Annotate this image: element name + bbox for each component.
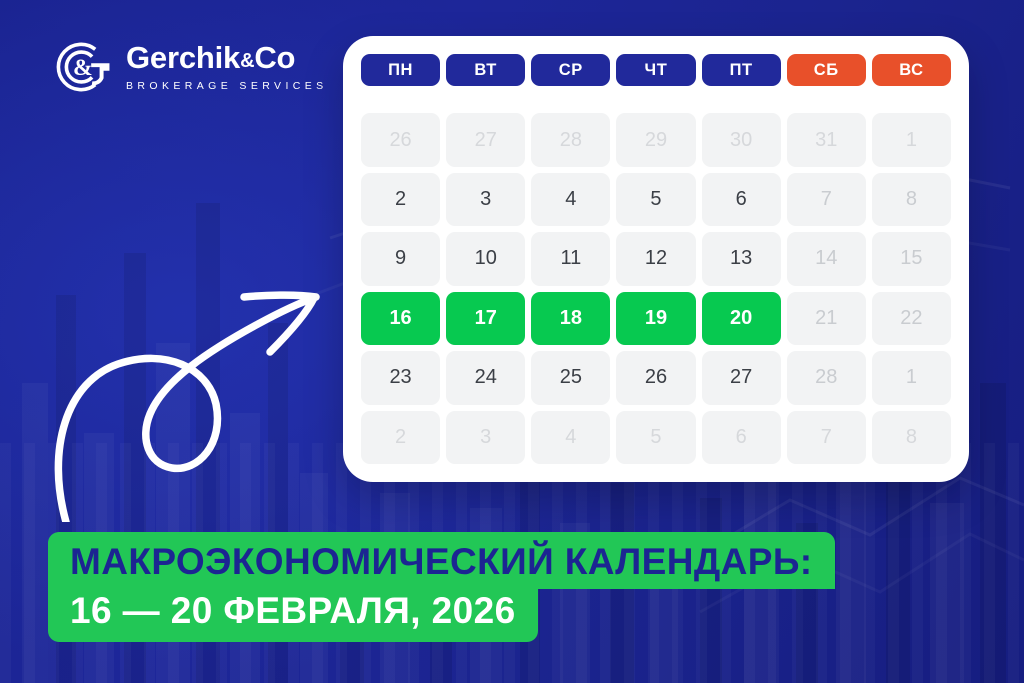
- background-bar: [930, 503, 964, 683]
- calendar-dayofweek-header: СР: [531, 54, 610, 86]
- calendar-day-cell[interactable]: 2: [361, 173, 440, 226]
- brand-wordmark: Gerchik&Co BROKERAGE SERVICES: [126, 42, 328, 92]
- calendar-day-cell[interactable]: 3: [446, 411, 525, 464]
- calendar-day-cell[interactable]: 8: [872, 411, 951, 464]
- brand-name-part2: Co: [254, 40, 295, 75]
- calendar-day-cell[interactable]: 13: [702, 232, 781, 285]
- calendar-day-cell[interactable]: 6: [702, 173, 781, 226]
- calendar-day-cell[interactable]: 3: [446, 173, 525, 226]
- calendar-grid: ПНВТСРЧТПТСБВС26272829303112345678910111…: [361, 54, 951, 464]
- hand-drawn-curved-arrow-icon: [48, 272, 338, 522]
- title-banner: МАКРОЭКОНОМИЧЕСКИЙ КАЛЕНДАРЬ: 16 — 20 ФЕ…: [48, 532, 835, 642]
- calendar-day-cell[interactable]: 4: [531, 173, 610, 226]
- calendar-day-cell[interactable]: 5: [616, 173, 695, 226]
- calendar-day-cell[interactable]: 9: [361, 232, 440, 285]
- calendar-day-cell[interactable]: 12: [616, 232, 695, 285]
- calendar-dayofweek-header: СБ: [787, 54, 866, 86]
- calendar-day-cell[interactable]: 11: [531, 232, 610, 285]
- brand-name: Gerchik&Co: [126, 42, 328, 75]
- brand-name-part1: Gerchik: [126, 40, 240, 75]
- calendar-dayofweek-header: ЧТ: [616, 54, 695, 86]
- calendar-day-cell-selected[interactable]: 18: [531, 292, 610, 345]
- calendar-day-cell[interactable]: 23: [361, 351, 440, 404]
- calendar-day-cell[interactable]: 28: [531, 113, 610, 166]
- calendar-dayofweek-header: ПН: [361, 54, 440, 86]
- calendar-day-cell[interactable]: 6: [702, 411, 781, 464]
- poster-canvas: & Gerchik&Co BROKERAGE SERVICES ПНВТСРЧТ…: [0, 0, 1024, 683]
- calendar-day-cell[interactable]: 2: [361, 411, 440, 464]
- calendar-day-cell[interactable]: 1: [872, 113, 951, 166]
- calendar-day-cell[interactable]: 24: [446, 351, 525, 404]
- calendar-day-cell[interactable]: 27: [446, 113, 525, 166]
- background-bar: [836, 478, 866, 683]
- svg-text:&: &: [73, 55, 93, 81]
- banner-title-line1: МАКРОЭКОНОМИЧЕСКИЙ КАЛЕНДАРЬ:: [48, 532, 835, 589]
- calendar-day-cell[interactable]: 31: [787, 113, 866, 166]
- calendar-day-cell-selected[interactable]: 19: [616, 292, 695, 345]
- calendar-day-cell[interactable]: 1: [872, 351, 951, 404]
- calendar-day-cell[interactable]: 7: [787, 173, 866, 226]
- brand-name-ampersand: &: [240, 50, 254, 72]
- calendar-day-cell[interactable]: 30: [702, 113, 781, 166]
- calendar-day-cell[interactable]: 26: [361, 113, 440, 166]
- calendar-day-cell-selected[interactable]: 17: [446, 292, 525, 345]
- calendar-dayofweek-header: ВС: [872, 54, 951, 86]
- calendar-day-cell[interactable]: 27: [702, 351, 781, 404]
- calendar-day-cell[interactable]: 10: [446, 232, 525, 285]
- calendar-day-cell[interactable]: 22: [872, 292, 951, 345]
- calendar-day-cell[interactable]: 5: [616, 411, 695, 464]
- calendar-day-cell[interactable]: 25: [531, 351, 610, 404]
- background-bar: [980, 383, 1006, 683]
- calendar-day-cell[interactable]: 29: [616, 113, 695, 166]
- brand-tagline: BROKERAGE SERVICES: [126, 80, 328, 92]
- calendar-day-cell[interactable]: 28: [787, 351, 866, 404]
- calendar-day-cell[interactable]: 4: [531, 411, 610, 464]
- calendar-day-cell[interactable]: 14: [787, 232, 866, 285]
- calendar-dayofweek-header: ПТ: [702, 54, 781, 86]
- calendar-day-cell[interactable]: 7: [787, 411, 866, 464]
- brand-logo[interactable]: & Gerchik&Co BROKERAGE SERVICES: [54, 38, 328, 96]
- calendar-day-cell[interactable]: 15: [872, 232, 951, 285]
- background-bar: [22, 383, 48, 683]
- calendar-day-cell[interactable]: 21: [787, 292, 866, 345]
- calendar-day-cell-selected[interactable]: 20: [702, 292, 781, 345]
- calendar-day-cell[interactable]: 8: [872, 173, 951, 226]
- calendar-dayofweek-header: ВТ: [446, 54, 525, 86]
- gerchik-monogram-icon: &: [54, 38, 112, 96]
- calendar-card: ПНВТСРЧТПТСБВС26272829303112345678910111…: [343, 36, 969, 482]
- banner-title-line2: 16 — 20 ФЕВРАЛЯ, 2026: [48, 588, 538, 642]
- calendar-day-cell[interactable]: 26: [616, 351, 695, 404]
- calendar-day-cell-selected[interactable]: 16: [361, 292, 440, 345]
